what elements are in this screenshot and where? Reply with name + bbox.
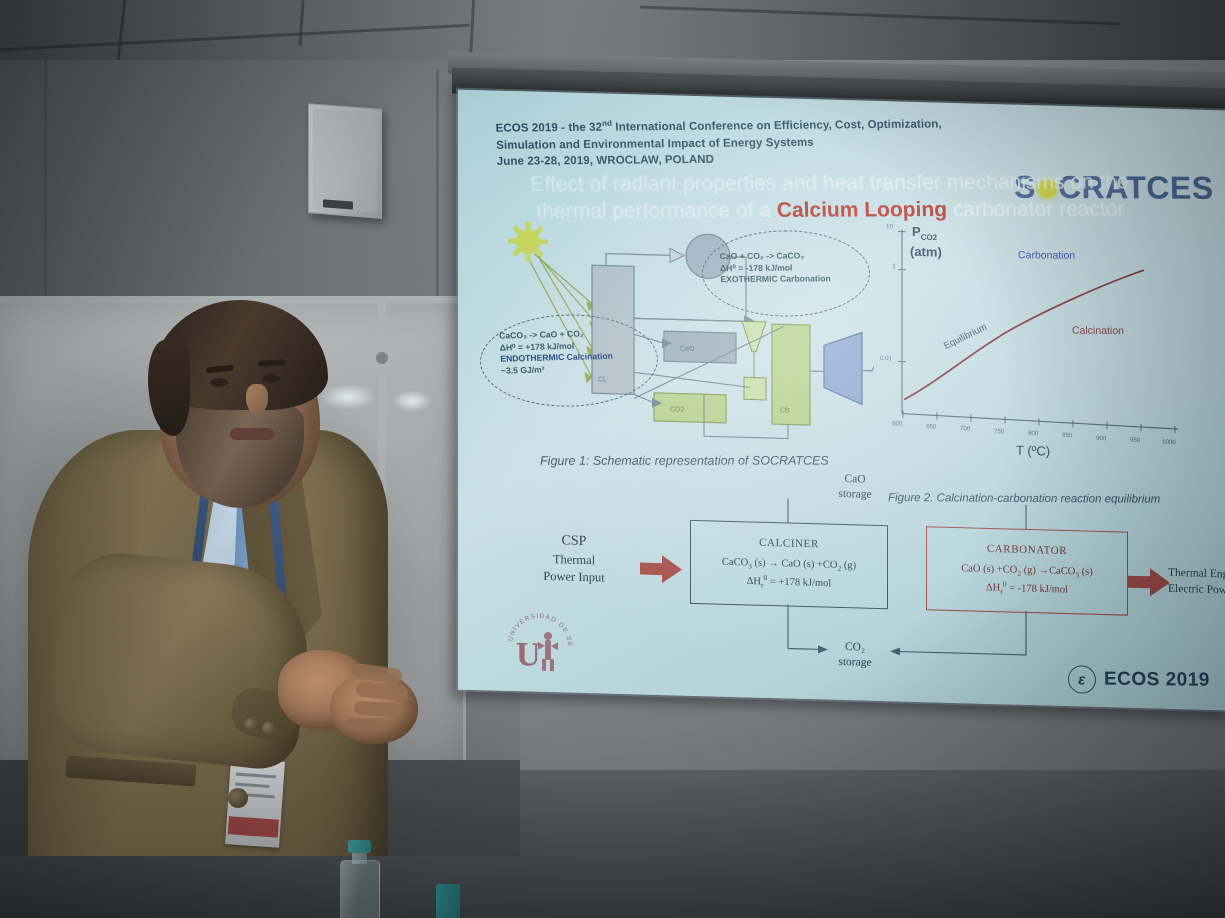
- chart-ylabel-main: P: [912, 224, 921, 239]
- csp-arrow-icon: [640, 555, 684, 584]
- chart-ylabel: PCO2: [912, 224, 937, 242]
- calciner-enthalpy: ΔHr0 = +178 kJ/mol: [747, 572, 832, 593]
- x-tick-label: 750: [994, 428, 1005, 436]
- oval-calcination-text: CaCO₃ -> CaO + CO₂ ΔH⁰ = +178 kJ/mol END…: [499, 327, 651, 377]
- header-line1-a: ECOS 2019 - the 32: [495, 122, 602, 135]
- svg-text:CO2: CO2: [670, 406, 684, 413]
- cuff-button: [244, 718, 257, 731]
- cao-store-box: [664, 331, 736, 363]
- header-line1-b: International Conference on Efficiency, …: [612, 118, 942, 133]
- carbonator-equation: CaO (s) +CO2 (g) →CaCO3 (s): [961, 561, 1093, 581]
- output-line2: Electric Power Output: [1168, 581, 1225, 601]
- oval-carbonation-text: CaO + CO₂ -> CaCO₃ ΔH⁰ = -178 kJ/mol EXO…: [719, 250, 862, 286]
- x-tick-label: 900: [1096, 435, 1107, 443]
- chart-region-carbonation: Carbonation: [1018, 249, 1075, 262]
- presentation-slide: ECOS 2019 - the 32nd International Confe…: [458, 90, 1225, 711]
- chart-region-calcination: Calcination: [1072, 325, 1124, 338]
- compressor-icon: [670, 248, 684, 262]
- title-part2: carbonator reactor: [947, 198, 1125, 222]
- x-tick-label: 950: [1130, 437, 1141, 445]
- x-tick-label: 1000: [1162, 438, 1176, 446]
- x-tick-label: 800: [1028, 430, 1039, 438]
- chart-ylabel-sub: CO2: [921, 233, 937, 242]
- badge-text-line: [236, 773, 276, 779]
- co2-storage-line2: storage: [820, 654, 890, 671]
- turbine-icon: [824, 331, 862, 404]
- chart-xlabel: T (ºC): [1016, 443, 1050, 459]
- ecos-2019-logo: ε ECOS 2019: [1068, 665, 1210, 694]
- slide-header: ECOS 2019 - the 32nd International Confe…: [495, 113, 1057, 170]
- x-tick-label: 600: [892, 420, 903, 428]
- co2-storage-label: CO₂ storage: [820, 639, 890, 671]
- y-tick-label: 10: [886, 223, 893, 230]
- presenter-finger: [346, 718, 388, 731]
- slide-title: Effect of radiant properties and heat tr…: [509, 168, 1150, 225]
- calciner-box: CALCINER CaCO3 (s) → CaO (s) +CO2 (g) ΔH…: [690, 520, 888, 609]
- header-line1-ordinal: nd: [602, 119, 612, 128]
- solar-sun-icon: [508, 221, 548, 262]
- badge-accent-bar: [228, 816, 279, 837]
- presenter: [0, 0, 470, 918]
- carbonator-enthalpy: ΔHr0 = -178 kJ/mol: [986, 578, 1068, 599]
- presenter-finger: [354, 701, 403, 717]
- ecos-epsilon-icon: ε: [1068, 665, 1096, 693]
- front-table: [0, 856, 1225, 918]
- bottle-cap: [436, 884, 460, 918]
- output-arrow-icon: [1128, 568, 1172, 597]
- second-bottle-cap: [430, 884, 470, 918]
- carbonator-box: CARBONATOR CaO (s) +CO2 (g) →CaCO3 (s) Δ…: [926, 526, 1128, 615]
- university-seal-svg: UNIVERSIDAD DE SEVILLA U: [504, 609, 576, 683]
- presenter-eye-left: [210, 378, 228, 387]
- university-of-sevilla-logo: UNIVERSIDAD DE SEVILLA U: [504, 609, 576, 683]
- x-tick-label: 700: [960, 425, 971, 433]
- header-line2: Simulation and Environmental Impact of E…: [496, 136, 814, 151]
- carbonation-label: EXOTHERMIC Carbonation: [720, 273, 862, 286]
- hercules-figure: [538, 632, 558, 672]
- x-tick-label: 650: [926, 423, 937, 431]
- cuff-button: [262, 722, 275, 735]
- y-tick-label: 0.01: [880, 355, 892, 362]
- bottle-body: [340, 860, 380, 918]
- x-ticks: [903, 411, 1175, 433]
- svg-text:CaO: CaO: [680, 346, 695, 353]
- electric-output-icon: [862, 363, 874, 380]
- chart-ylabel-unit: (atm): [910, 244, 942, 260]
- cao-storage-label: CaO storage: [820, 471, 890, 503]
- process-flow-diagram: CSP Thermal Power Input CALCINER CaCO3 (…: [488, 490, 1208, 689]
- ecos-logo-text: ECOS 2019: [1104, 669, 1210, 692]
- title-highlight: Calcium Looping: [776, 198, 947, 222]
- carbonator-column: [772, 324, 810, 425]
- projection-screen: ECOS 2019 - the 32nd International Confe…: [458, 90, 1225, 711]
- figure1-caption: Figure 1: Schematic representation of SO…: [540, 454, 829, 468]
- water-bottle: [336, 838, 382, 918]
- solids-hopper: [744, 377, 766, 400]
- csp-line3: Power Input: [514, 567, 634, 587]
- presenter-nose: [246, 384, 268, 414]
- svg-text:U: U: [516, 636, 541, 674]
- cao-storage-line2: storage: [820, 486, 890, 503]
- photo-scene: ECOS 2019 - the 32nd International Confe…: [0, 0, 1225, 918]
- presenter-eye-right: [262, 374, 280, 383]
- badge-text-line: [235, 783, 269, 788]
- co2-store-box: [654, 393, 726, 423]
- calciner-title: CALCINER: [759, 537, 819, 551]
- figure2-chart: PCO2 (atm) 10 1 0.01 600 650 700 750 800…: [876, 221, 1206, 495]
- calciner-equation: CaCO3 (s) → CaO (s) +CO2 (g): [722, 555, 856, 575]
- csp-input-label: CSP Thermal Power Input: [514, 531, 634, 587]
- x-axis: [902, 414, 1178, 429]
- presenter-mouth: [230, 428, 274, 440]
- header-line3: June 23-28, 2019, WROCLAW, POLAND: [497, 154, 715, 168]
- svg-text:CB: CB: [780, 407, 790, 414]
- thermal-engine-label: Thermal Engine Electric Power Output: [1168, 565, 1225, 601]
- y-tick-label: 1: [892, 263, 896, 270]
- x-tick-label: 850: [1062, 432, 1073, 440]
- carbonator-title: CARBONATOR: [987, 543, 1067, 557]
- jacket-button: [228, 788, 248, 808]
- bottle-cap: [348, 840, 371, 853]
